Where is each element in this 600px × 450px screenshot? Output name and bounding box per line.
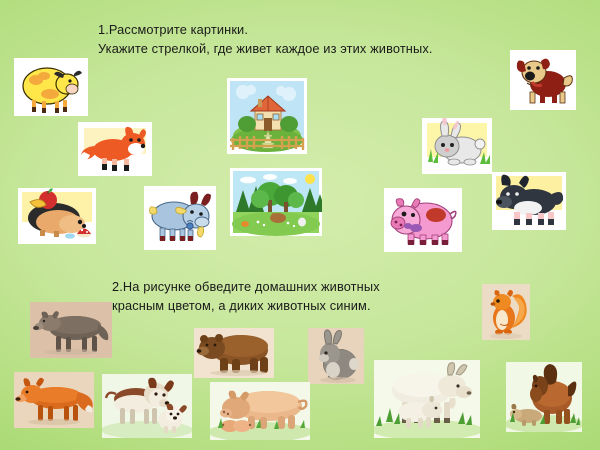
picture-card-fox[interactable] <box>78 122 152 176</box>
picture-card-wolf[interactable] <box>492 172 566 230</box>
picture-card-pigs-photo[interactable] <box>210 382 310 440</box>
horses-photo-icon <box>506 362 582 432</box>
worksheet-slide: 1.Рассмотрите картинки. Укажите стрелкой… <box>0 0 600 450</box>
bear-photo-icon <box>194 328 274 378</box>
hare-photo-icon <box>308 328 364 384</box>
goats-photo-icon <box>374 360 480 438</box>
picture-card-bear-photo[interactable] <box>194 328 274 378</box>
wolf-photo-icon <box>30 302 112 358</box>
picture-card-wolf-photo[interactable] <box>30 302 112 358</box>
picture-card-squirrel-photo[interactable] <box>482 284 530 340</box>
house-habitat-icon <box>227 78 307 154</box>
picture-card-hedgehog[interactable] <box>18 188 96 244</box>
dogs-photo-icon <box>102 374 192 438</box>
task-1-instruction: 1.Рассмотрите картинки. Укажите стрелкой… <box>98 20 433 59</box>
goat-cartoon-icon <box>144 186 216 250</box>
wolf-cartoon-icon <box>492 172 566 230</box>
picture-card-dog[interactable] <box>510 50 576 110</box>
pig-cartoon-icon <box>384 188 462 252</box>
picture-card-sheep[interactable] <box>14 58 88 116</box>
picture-card-horses-photo[interactable] <box>506 362 582 432</box>
sheep-cartoon-icon <box>14 58 88 116</box>
picture-card-hare[interactable] <box>422 118 492 174</box>
hare-cartoon-icon <box>422 118 492 174</box>
picture-card-pig[interactable] <box>384 188 462 252</box>
picture-card-goat[interactable] <box>144 186 216 250</box>
dog-cartoon-icon <box>510 50 576 110</box>
picture-card-fox-photo[interactable] <box>14 372 94 428</box>
picture-card-goats-photo[interactable] <box>374 360 480 438</box>
fox-cartoon-icon <box>78 122 152 176</box>
hedgehog-cartoon-icon <box>18 188 96 244</box>
picture-card-hare-photo[interactable] <box>308 328 364 384</box>
picture-card-house[interactable] <box>227 78 307 154</box>
task-2-instruction: 2.На рисунке обведите домашних животных … <box>112 277 380 316</box>
picture-card-forest[interactable] <box>230 168 322 236</box>
fox-photo-icon <box>14 372 94 428</box>
pigs-photo-icon <box>210 382 310 440</box>
picture-card-dogs-photo[interactable] <box>102 374 192 438</box>
squirrel-photo-icon <box>482 284 530 340</box>
forest-habitat-icon <box>230 168 322 236</box>
